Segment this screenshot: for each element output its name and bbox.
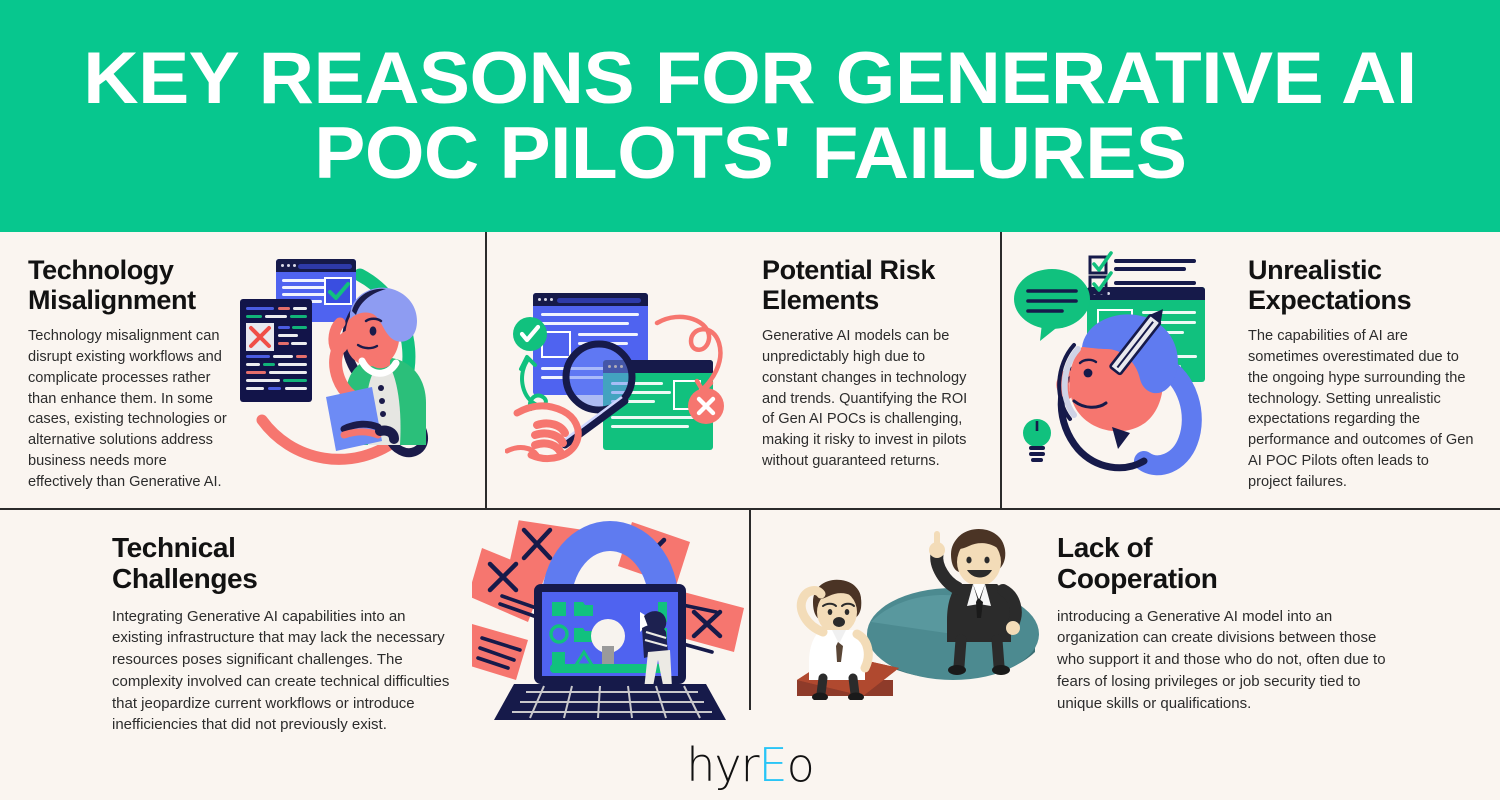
divider-vertical-1	[485, 232, 487, 508]
card-potential-risk-elements: Potential Risk Elements Generative AI mo…	[762, 255, 977, 472]
header-title-line-2: POC PILOTS' FAILURES	[314, 120, 1186, 187]
card-technical-challenges: Technical Challenges Integrating Generat…	[112, 532, 452, 736]
card-title: Lack of Cooperation	[1057, 532, 1402, 595]
card-body: introducing a Generative AI model into a…	[1057, 606, 1402, 715]
head-profile-figure	[1012, 245, 1244, 500]
woman-figure	[240, 245, 480, 500]
infographic-header: KEY REASONS FOR GENERATIVE AI POC PILOTS…	[0, 0, 1500, 232]
illustration-two-businessmen-pie-chart	[775, 520, 1045, 700]
card-body: Technology misalignment can disrupt exis…	[28, 326, 233, 492]
logo-text-part-3: o	[787, 738, 814, 792]
header-title-line-1: KEY REASONS FOR GENERATIVE AI	[83, 45, 1416, 112]
logo-text-accent: E	[759, 738, 787, 792]
magnifying-glass-icon	[505, 265, 745, 495]
card-lack-of-cooperation: Lack of Cooperation introducing a Genera…	[1057, 532, 1402, 714]
card-title: Technology Misalignment	[28, 255, 233, 315]
card-body: The capabilities of AI are sometimes ove…	[1248, 326, 1476, 492]
card-title: Potential Risk Elements	[762, 255, 977, 315]
card-body: Generative AI models can be unpredictabl…	[762, 326, 977, 471]
illustration-magnifying-glass-browser-windows	[505, 265, 745, 495]
card-body: Integrating Generative AI capabilities i…	[112, 606, 452, 737]
illustration-woman-pointing-code-screens	[240, 245, 480, 500]
logo-text-part-1: hyr	[686, 738, 758, 792]
hyreo-logo: hyrEo	[0, 738, 1500, 792]
illustration-head-profile-checklist	[1012, 245, 1244, 500]
card-unrealistic-expectations: Unrealistic Expectations The capabilitie…	[1248, 255, 1476, 492]
card-title: Technical Challenges	[112, 532, 452, 595]
divider-vertical-3	[749, 510, 751, 710]
card-title: Unrealistic Expectations	[1248, 255, 1476, 315]
illustration-laptop-lock-error-cards	[472, 512, 747, 732]
divider-vertical-2	[1000, 232, 1002, 508]
card-technology-misalignment: Technology Misalignment Technology misal…	[28, 255, 233, 492]
